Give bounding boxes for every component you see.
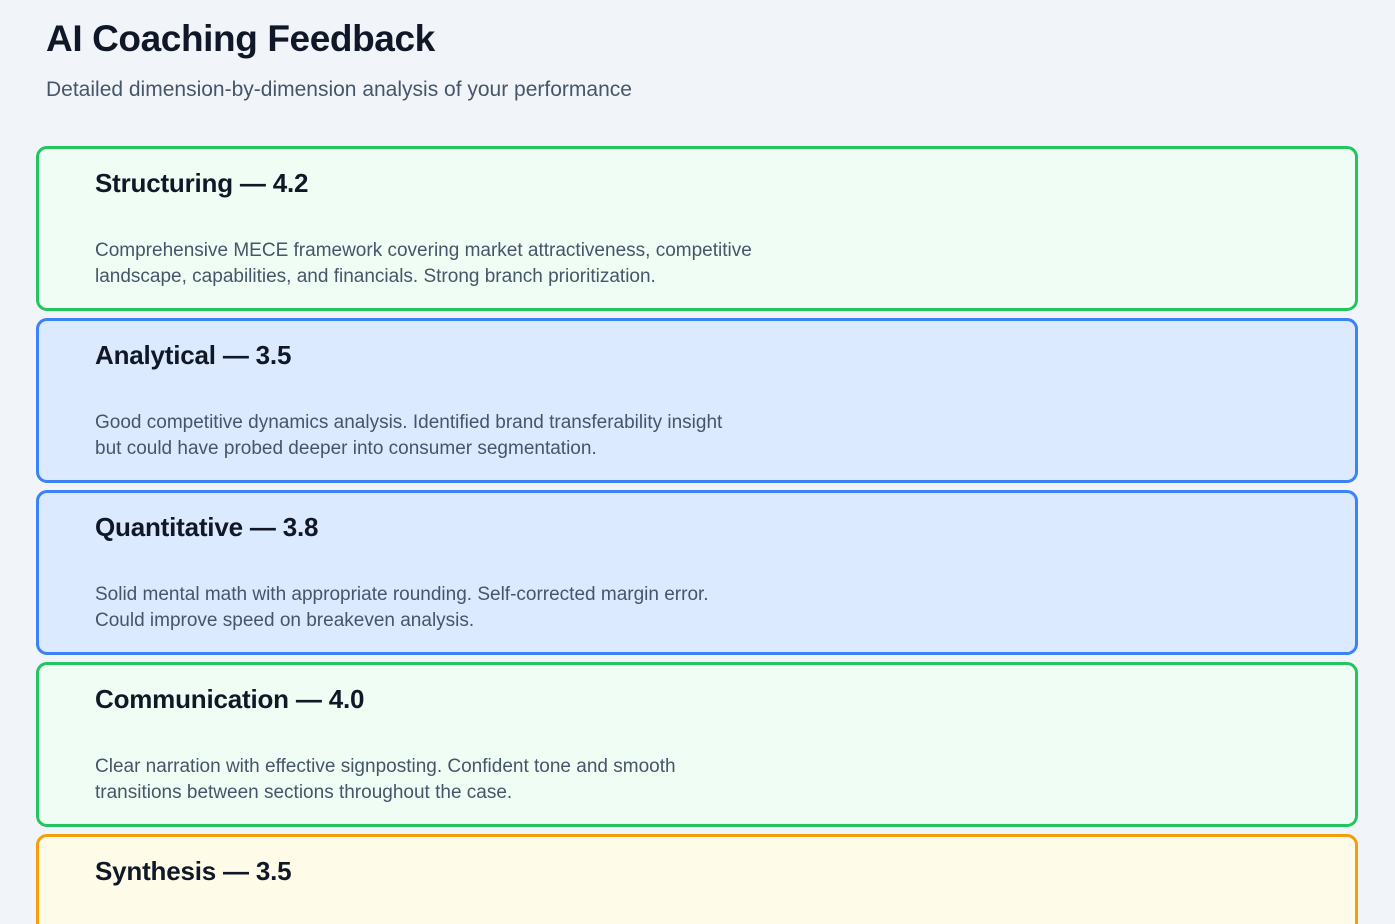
feedback-card-title: Structuring — 4.2 (95, 167, 1355, 200)
feedback-card-synthesis[interactable]: Synthesis — 3.5 Adequate recommendation … (36, 834, 1358, 924)
feedback-card-quantitative[interactable]: Quantitative — 3.8 Solid mental math wit… (36, 490, 1358, 655)
feedback-card-body: Good competitive dynamics analysis. Iden… (95, 372, 995, 462)
feedback-card-structuring[interactable]: Structuring — 4.2 Comprehensive MECE fra… (36, 146, 1358, 311)
feedback-card-title: Synthesis — 3.5 (95, 855, 1355, 888)
feedback-card-body: Solid mental math with appropriate round… (95, 544, 995, 634)
feedback-card-list: Structuring — 4.2 Comprehensive MECE fra… (0, 146, 1395, 924)
page-header: AI Coaching Feedback Detailed dimension-… (0, 0, 1395, 103)
feedback-card-title: Quantitative — 3.8 (95, 511, 1355, 544)
feedback-card-title: Communication — 4.0 (95, 683, 1355, 716)
feedback-card-communication[interactable]: Communication — 4.0 Clear narration with… (36, 662, 1358, 827)
page-title: AI Coaching Feedback (46, 8, 1395, 61)
feedback-card-body: Comprehensive MECE framework covering ma… (95, 200, 995, 290)
page-subtitle: Detailed dimension-by-dimension analysis… (46, 61, 1395, 103)
feedback-card-body: Clear narration with effective signposti… (95, 716, 995, 806)
feedback-card-body: Adequate recommendation but lacked a dec… (95, 888, 995, 924)
feedback-card-analytical[interactable]: Analytical — 3.5 Good competitive dynami… (36, 318, 1358, 483)
coaching-feedback-page: AI Coaching Feedback Detailed dimension-… (0, 0, 1395, 924)
feedback-card-title: Analytical — 3.5 (95, 339, 1355, 372)
